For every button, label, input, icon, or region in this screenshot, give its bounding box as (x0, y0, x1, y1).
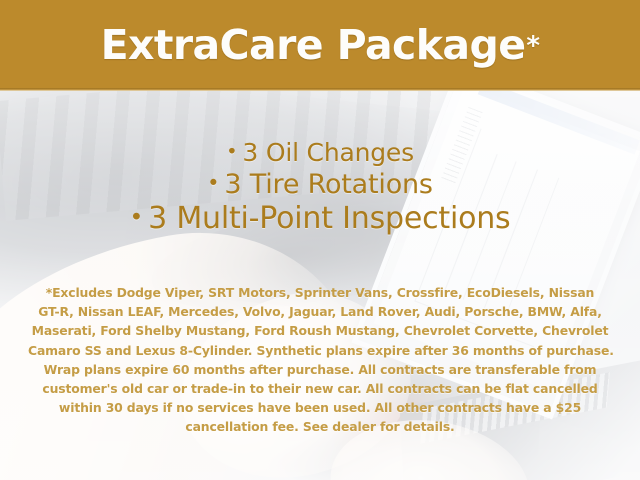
benefit-item-multi-point-inspections: •3 Multi-Point Inspections (0, 202, 640, 235)
bullet-icon: • (130, 203, 144, 231)
disclaimer-line: Camaro SS and Lexus 8-Cylinder. Syntheti… (28, 341, 612, 360)
extracare-package-promo: ExtraCare Package* •3 Oil Changes •3 Tir… (0, 0, 640, 480)
disclaimer-line: customer's old car or trade-in to their … (28, 379, 612, 398)
benefits-list: •3 Oil Changes •3 Tire Rotations •3 Mult… (0, 139, 640, 235)
page-title-asterisk: * (526, 33, 539, 59)
disclaimer-line: Maserati, Ford Shelby Mustang, Ford Rous… (28, 321, 612, 340)
page-title-text: ExtraCare Package (101, 25, 526, 66)
disclaimer-line: *Excludes Dodge Viper, SRT Motors, Sprin… (28, 283, 612, 302)
benefit-item-tire-rotations: •3 Tire Rotations (0, 170, 640, 200)
disclaimer-line: cancellation fee. See dealer for details… (28, 417, 612, 436)
bullet-icon: • (226, 140, 237, 163)
page-title: ExtraCare Package* (0, 0, 640, 91)
disclaimer-line: GT-R, Nissan LEAF, Mercedes, Volvo, Jagu… (28, 302, 612, 321)
benefit-label: 3 Tire Rotations (224, 169, 432, 200)
promo-content: •3 Oil Changes •3 Tire Rotations •3 Mult… (0, 91, 640, 480)
disclaimer-text: *Excludes Dodge Viper, SRT Motors, Sprin… (28, 283, 612, 437)
benefit-label: 3 Multi-Point Inspections (148, 201, 510, 236)
benefit-label: 3 Oil Changes (242, 138, 414, 167)
disclaimer-line: within 30 days if no services have been … (28, 398, 612, 417)
disclaimer-line: Wrap plans expire 60 months after purcha… (28, 360, 612, 379)
bullet-icon: • (207, 170, 219, 195)
benefit-item-oil-changes: •3 Oil Changes (0, 139, 640, 167)
